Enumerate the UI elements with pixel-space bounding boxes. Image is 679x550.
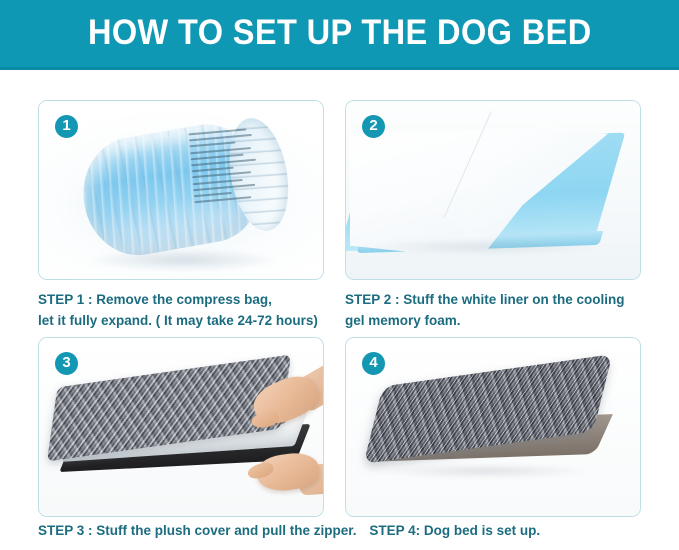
step-image-1 xyxy=(39,101,323,279)
step-block-4: 4 xyxy=(345,337,641,517)
package-label-text xyxy=(188,128,261,217)
page-title: HOW TO SET UP THE DOG BED xyxy=(88,15,592,52)
step-block-2: 2 STEP 2 : Stuff the white liner on the … xyxy=(345,100,641,331)
step-panel-4[interactable]: 4 xyxy=(345,337,641,517)
step-block-1: 1 STEP 1 : Remove the compress bag, let … xyxy=(38,100,324,331)
step-caption-1: STEP 1 : Remove the compress bag, let it… xyxy=(38,289,324,331)
step-caption-4: STEP 4: Dog bed is set up. xyxy=(369,523,540,538)
finished-bed-graphic xyxy=(372,372,608,476)
caption-line-2: gel memory foam. xyxy=(345,310,641,331)
step-image-3 xyxy=(39,338,323,516)
steps-area: 1 STEP 1 : Remove the compress bag, let … xyxy=(0,70,679,550)
step-image-2 xyxy=(346,101,640,279)
caption-line-1: STEP 2 : Stuff the white liner on the co… xyxy=(345,289,641,310)
step-caption-3: STEP 3 : Stuff the plush cover and pull … xyxy=(38,523,357,538)
step-image-4 xyxy=(346,338,640,516)
caption-line-2: let it fully expand. ( It may take 24-72… xyxy=(38,310,324,331)
drop-shadow xyxy=(87,249,279,271)
step-caption-2: STEP 2 : Stuff the white liner on the co… xyxy=(345,289,641,331)
drop-shadow xyxy=(362,239,598,255)
bed-assembly-graphic xyxy=(47,368,309,480)
bottom-caption-row: STEP 3 : Stuff the plush cover and pull … xyxy=(38,521,658,541)
step-badge-2: 2 xyxy=(361,114,386,139)
step-panel-1[interactable]: 1 xyxy=(38,100,324,280)
step-panel-2[interactable]: 2 xyxy=(345,100,641,280)
step-block-3: 3 xyxy=(38,337,324,517)
caption-line-1: STEP 1 : Remove the compress bag, xyxy=(38,289,324,310)
step-panel-3[interactable]: 3 xyxy=(38,337,324,517)
step-badge-1: 1 xyxy=(54,114,79,139)
step-badge-3: 3 xyxy=(54,351,79,376)
drop-shadow xyxy=(380,464,590,478)
thumb xyxy=(246,460,275,481)
step-badge-4: 4 xyxy=(361,351,386,376)
header-banner: HOW TO SET UP THE DOG BED xyxy=(0,0,679,70)
